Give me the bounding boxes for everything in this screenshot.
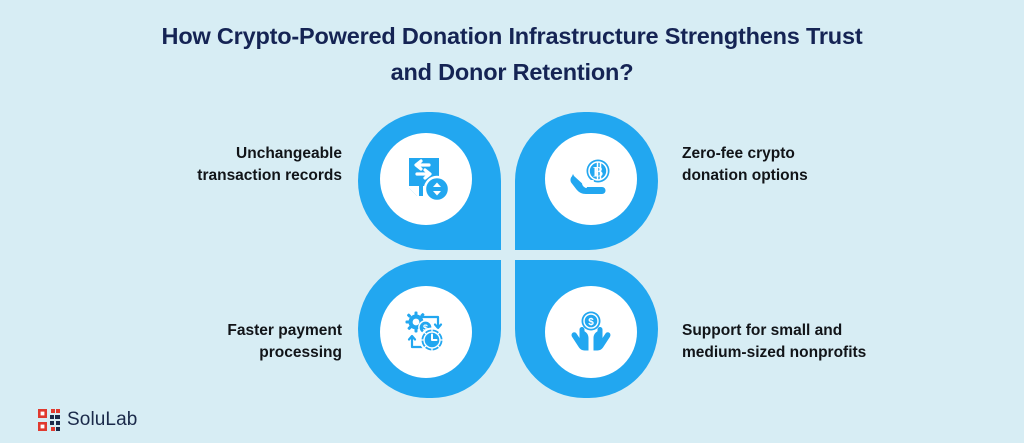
feature-label-line-2: transaction records: [92, 165, 342, 187]
feature-petal-unchangeable-transaction-records[interactable]: [358, 112, 501, 250]
brand-name: SoluLab: [67, 409, 137, 431]
icon-disc-top-left: [380, 133, 472, 225]
feature-label-line-1: Zero-fee crypto: [682, 143, 942, 165]
feature-label-line-1: Support for small and: [682, 320, 952, 342]
page-title-line-1: How Crypto-Powered Donation Infrastructu…: [0, 18, 1024, 54]
solulab-qr-mark-icon: [38, 409, 60, 431]
document-exchange-arrows-icon: [399, 152, 453, 206]
feature-petal-support-for-small-and-medium-sized-nonprofits[interactable]: $: [515, 260, 658, 398]
feature-label-line-2: processing: [92, 342, 342, 364]
feature-label-support-for-small-and-medium-sized-nonprofits: Support for small and medium-sized nonpr…: [682, 320, 952, 364]
feature-label-line-1: Unchangeable: [92, 143, 342, 165]
page-title: How Crypto-Powered Donation Infrastructu…: [0, 18, 1024, 90]
feature-pinwheel: B: [358, 112, 658, 398]
feature-label-unchangeable-transaction-records: Unchangeable transaction records: [92, 143, 342, 187]
gear-coin-clock-cycle-icon: $: [399, 305, 453, 359]
svg-text:$: $: [588, 317, 594, 328]
hand-holding-bitcoin-icon: B: [564, 152, 618, 206]
page-title-line-2: and Donor Retention?: [0, 54, 1024, 90]
icon-disc-bottom-left: $: [380, 286, 472, 378]
feature-label-line-2: medium-sized nonprofits: [682, 342, 952, 364]
feature-petal-zero-fee-crypto-donation-options[interactable]: B: [515, 112, 658, 250]
feature-label-zero-fee-crypto-donation-options: Zero-fee crypto donation options: [682, 143, 942, 187]
hands-holding-dollar-coin-icon: $: [564, 305, 618, 359]
icon-disc-top-right: B: [545, 133, 637, 225]
feature-label-line-2: donation options: [682, 165, 942, 187]
icon-disc-bottom-right: $: [545, 286, 637, 378]
feature-petal-faster-payment-processing[interactable]: $: [358, 260, 501, 398]
brand-logo: SoluLab: [38, 409, 137, 431]
feature-label-faster-payment-processing: Faster payment processing: [92, 320, 342, 364]
feature-label-line-1: Faster payment: [92, 320, 342, 342]
